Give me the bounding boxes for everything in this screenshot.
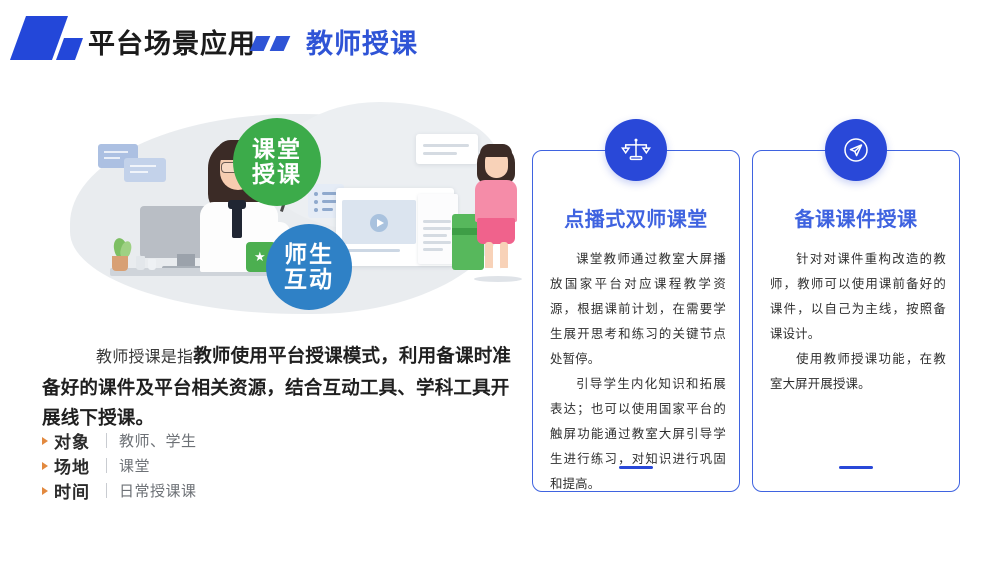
meta-label: 对象 [54, 428, 98, 453]
chat-line [104, 151, 128, 153]
logo-shape-small [56, 38, 83, 60]
meta-divider [106, 458, 107, 473]
meta-label: 时间 [54, 478, 98, 503]
card-paragraph-text: 课堂教师通过教室大屏播放国家平台对应课程教学资源，根据课前计划，在需要学生展开思… [550, 252, 726, 366]
doc-line [423, 241, 451, 244]
doc-line [423, 248, 443, 251]
slash-shape-2 [270, 36, 291, 51]
double-slash-icon [253, 36, 297, 52]
badge-line-2: 互动 [284, 267, 334, 292]
student-shoe [482, 268, 495, 275]
card-paragraph: 使用教师授课功能，在教室大屏开展授课。 [770, 347, 946, 397]
card-title: 备课课件授课 [753, 203, 959, 232]
note-line [423, 144, 469, 147]
meta-value: 课堂 [119, 455, 150, 476]
paper-plane-icon [825, 119, 887, 181]
student-leg [485, 242, 493, 270]
doc-line [423, 220, 451, 223]
card-paragraph-text: 使用教师授课功能，在教室大屏开展授课。 [770, 352, 946, 391]
card-paragraph: 课堂教师通过教室大屏播放国家平台对应课程教学资源，根据课前计划，在需要学生展开思… [550, 247, 726, 372]
student-shadow [474, 276, 522, 282]
meta-label: 场地 [54, 453, 98, 478]
meta-divider [106, 483, 107, 498]
plant-pot-icon [112, 256, 128, 271]
intro-lead: 教师授课是指 [96, 349, 193, 366]
parallelogram-logo-icon [18, 16, 84, 60]
card-paragraph: 针对对课件重构改造的教师，教师可以使用课前备好的课件，以自己为主线，按照备课设计… [770, 247, 946, 347]
star-icon: ★ [254, 250, 266, 263]
page-title: 平台场景应用 [88, 22, 256, 61]
card-body: 课堂教师通过教室大屏播放国家平台对应课程教学资源，根据课前计划，在需要学生展开思… [550, 247, 726, 497]
meta-list: 对象 教师、学生 场地 课堂 时间 日常授课课 [42, 428, 342, 503]
list-dot [314, 200, 318, 204]
triangle-bullet-icon [42, 462, 48, 470]
video-progress-bar [342, 249, 400, 252]
feature-card-2[interactable]: 备课课件授课 针对对课件重构改造的教师，教师可以使用课前备好的课件，以自己为主线… [752, 150, 960, 492]
meta-row: 场地 课堂 [42, 453, 342, 478]
chat-line [130, 165, 156, 167]
note-line [423, 152, 457, 155]
doc-line [423, 234, 447, 237]
list-line [322, 200, 337, 203]
card-body: 针对对课件重构改造的教师，教师可以使用课前备好的课件，以自己为主线，按照备课设计… [770, 247, 946, 397]
play-button-icon [370, 214, 388, 232]
blue-circle-badge: 师生 互动 [266, 224, 352, 310]
page-subtitle: 教师授课 [306, 22, 418, 61]
meta-value: 教师、学生 [119, 430, 197, 451]
list-line [322, 208, 333, 211]
list-dot [314, 192, 318, 196]
triangle-bullet-icon [42, 487, 48, 495]
slash-shape-1 [250, 36, 271, 51]
card-bottom-dash [839, 466, 873, 470]
badge-line-2: 授课 [252, 162, 302, 187]
card-paragraph-text: 引导学生内化知识和拓展表达；也可以使用国家平台的触屏功能通过教室大屏引导学生进行… [550, 377, 726, 491]
badge-line-1: 师生 [284, 242, 334, 267]
badge-line-1: 课堂 [252, 137, 302, 162]
card-paragraph-text: 针对对课件重构改造的教师，教师可以使用课前备好的课件，以自己为主线，按照备课设计… [770, 252, 946, 341]
note-card [416, 134, 478, 164]
meta-row: 对象 教师、学生 [42, 428, 342, 453]
chat-line [104, 157, 120, 159]
feature-card-1[interactable]: 点播式双师课堂 课堂教师通过教室大屏播放国家平台对应课程教学资源，根据课前计划，… [532, 150, 740, 492]
list-dot [314, 208, 318, 212]
meta-row: 时间 日常授课课 [42, 478, 342, 503]
teacher-classroom-illustration: ★ 课堂 授课 师生 互动 [40, 96, 530, 336]
card-title: 点播式双师课堂 [533, 203, 739, 232]
intro-paragraph: 教师授课是指教师使用平台授课模式，利用备课时准备好的课件及平台相关资源，结合互动… [42, 341, 522, 433]
student-fringe [480, 144, 512, 157]
card-paragraph: 引导学生内化知识和拓展表达；也可以使用国家平台的触屏功能通过教室大屏引导学生进行… [550, 372, 726, 497]
chat-bubble-icon-2 [124, 158, 166, 182]
card-bottom-dash [619, 466, 653, 470]
list-line [322, 192, 337, 195]
student-skirt [477, 218, 515, 244]
doc-line [423, 227, 451, 230]
teacher-tie [232, 204, 242, 238]
green-circle-badge: 课堂 授课 [233, 118, 321, 206]
chat-line [130, 171, 148, 173]
cup-icon [136, 256, 145, 270]
student-shirt [475, 180, 517, 222]
triangle-bullet-icon [42, 437, 48, 445]
balance-scale-icon [605, 119, 667, 181]
page-header: 平台场景应用 教师授课 [0, 0, 1000, 78]
student-leg [500, 242, 508, 270]
meta-value: 日常授课课 [119, 480, 197, 501]
cup-icon [148, 259, 156, 270]
meta-divider [106, 433, 107, 448]
student-shoe [498, 268, 511, 275]
